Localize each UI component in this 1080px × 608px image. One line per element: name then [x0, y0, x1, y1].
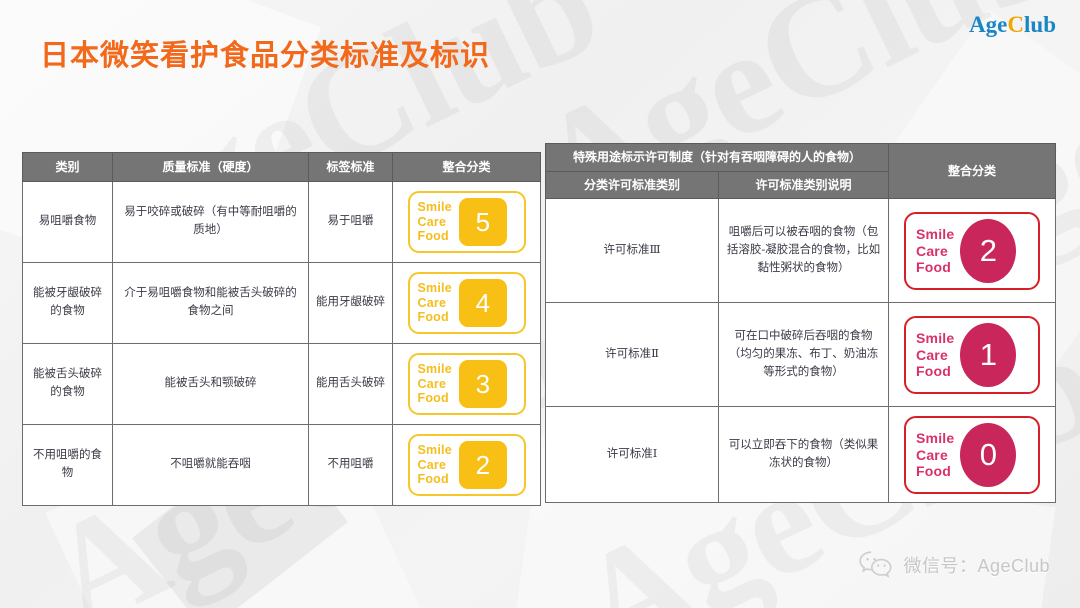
table-row: 许可标准Ⅱ 可在口中破碎后吞咽的食物（均匀的果冻、布丁、奶油冻等形式的食物） S… — [546, 303, 1056, 407]
brand-logo-lub: lub — [1024, 12, 1056, 37]
badge-number: 3 — [459, 360, 507, 408]
badge-word-food: Food — [916, 463, 951, 479]
cell-label: 易于咀嚼 — [309, 182, 393, 263]
cell-description: 咀嚼后可以被吞咽的食物（包括溶胶-凝胶混合的食物，比如黏性粥状的食物） — [719, 199, 889, 303]
cell-quality: 能被舌头和颚破碎 — [113, 344, 309, 425]
brand-logo: AgeClub — [969, 12, 1056, 38]
cell-label: 不用咀嚼 — [309, 425, 393, 506]
col-header-quality: 质量标准（硬度） — [113, 153, 309, 182]
badge-word-smile: Smile — [916, 330, 954, 346]
badge-word-food: Food — [916, 363, 951, 379]
cell-classification-badge: Smile Care Food 1 — [889, 303, 1056, 407]
smile-care-food-badge: Smile Care Food 5 — [408, 191, 526, 253]
badge-word-care: Care — [418, 458, 447, 472]
wechat-footer: 微信号：AgeClub — [858, 550, 1050, 580]
smile-care-food-badge: Smile Care Food 4 — [408, 272, 526, 334]
badge-wordmark: Smile Care Food — [916, 226, 954, 275]
badge-word-food: Food — [418, 391, 449, 405]
cell-classification-badge: Smile Care Food 4 — [393, 263, 541, 344]
badge-word-care: Care — [418, 296, 447, 310]
badge-word-food: Food — [916, 259, 951, 275]
cell-quality: 不咀嚼就能吞咽 — [113, 425, 309, 506]
badge-wordmark: Smile Care Food — [418, 200, 452, 244]
table-header-row: 类别 质量标准（硬度） 标签标准 整合分类 — [23, 153, 541, 182]
cell-category: 能被舌头破碎的食物 — [23, 344, 113, 425]
badge-wordmark: Smile Care Food — [418, 443, 452, 487]
badge-wordmark: Smile Care Food — [916, 430, 954, 479]
smile-care-food-badge: Smile Care Food 0 — [904, 416, 1040, 494]
cell-classification-badge: Smile Care Food 3 — [393, 344, 541, 425]
smile-care-food-badge: Smile Care Food 2 — [408, 434, 526, 496]
col-header-class: 整合分类 — [889, 144, 1056, 199]
cell-label: 能用牙龈破碎 — [309, 263, 393, 344]
col-header-class: 整合分类 — [393, 153, 541, 182]
special-use-labeling-permission-table: 特殊用途标示许可制度（针对有吞咽障碍的人的食物） 整合分类 分类许可标准类别 许… — [545, 143, 1056, 503]
brand-logo-c: C — [1007, 12, 1024, 37]
col-header-category: 类别 — [23, 153, 113, 182]
wechat-id-label: 微信号：AgeClub — [903, 552, 1050, 578]
table-row: 许可标准Ⅲ 咀嚼后可以被吞咽的食物（包括溶胶-凝胶混合的食物，比如黏性粥状的食物… — [546, 199, 1056, 303]
badge-number: 1 — [960, 323, 1016, 387]
cell-standard: 许可标准Ⅰ — [546, 407, 719, 503]
cell-category: 能被牙龈破碎的食物 — [23, 263, 113, 344]
cell-category: 不用咀嚼的食物 — [23, 425, 113, 506]
badge-word-smile: Smile — [418, 443, 452, 457]
smile-care-food-badge: Smile Care Food 2 — [904, 212, 1040, 290]
cell-description: 可在口中破碎后吞咽的食物（均匀的果冻、布丁、奶油冻等形式的食物） — [719, 303, 889, 407]
badge-number: 5 — [459, 198, 507, 246]
badge-wordmark: Smile Care Food — [418, 362, 452, 406]
badge-word-smile: Smile — [418, 362, 452, 376]
slide-canvas: AgeClub AgeClub AgeClub AgeClub AgeClub … — [0, 0, 1080, 608]
badge-word-care: Care — [916, 347, 948, 363]
table-group-header-row: 特殊用途标示许可制度（针对有吞咽障碍的人的食物） 整合分类 — [546, 144, 1056, 172]
table-row: 许可标准Ⅰ 可以立即吞下的食物（类似果冻状的食物） Smile Care Foo… — [546, 407, 1056, 503]
badge-word-smile: Smile — [916, 226, 954, 242]
badge-number: 2 — [459, 441, 507, 489]
col-header-label: 标签标准 — [309, 153, 393, 182]
table-row: 能被舌头破碎的食物 能被舌头和颚破碎 能用舌头破碎 Smile Care Foo… — [23, 344, 541, 425]
cell-category: 易咀嚼食物 — [23, 182, 113, 263]
badge-word-food: Food — [418, 472, 449, 486]
brand-logo-age: Age — [969, 12, 1007, 37]
cell-quality: 介于易咀嚼食物和能被舌头破碎的食物之间 — [113, 263, 309, 344]
badge-number: 0 — [960, 423, 1016, 487]
table-row: 能被牙龈破碎的食物 介于易咀嚼食物和能被舌头破碎的食物之间 能用牙龈破碎 Smi… — [23, 263, 541, 344]
smile-care-food-badge: Smile Care Food 3 — [408, 353, 526, 415]
group-header-special-use: 特殊用途标示许可制度（针对有吞咽障碍的人的食物） — [546, 144, 889, 172]
cell-label: 能用舌头破碎 — [309, 344, 393, 425]
badge-word-food: Food — [418, 310, 449, 324]
page-title: 日本微笑看护食品分类标准及标识 — [40, 32, 490, 74]
badge-wordmark: Smile Care Food — [916, 330, 954, 379]
badge-wordmark: Smile Care Food — [418, 281, 452, 325]
cell-classification-badge: Smile Care Food 2 — [393, 425, 541, 506]
badge-number: 2 — [960, 219, 1016, 283]
food-texture-classification-table: 类别 质量标准（硬度） 标签标准 整合分类 易咀嚼食物 易于咬碎或破碎（有中等耐… — [22, 152, 541, 506]
cell-classification-badge: Smile Care Food 0 — [889, 407, 1056, 503]
cell-quality: 易于咬碎或破碎（有中等耐咀嚼的质地） — [113, 182, 309, 263]
badge-word-care: Care — [916, 243, 948, 259]
smile-care-food-badge: Smile Care Food 1 — [904, 316, 1040, 394]
cell-standard: 许可标准Ⅲ — [546, 199, 719, 303]
wechat-icon — [858, 550, 894, 580]
col-header-standard-desc: 许可标准类别说明 — [719, 171, 889, 199]
col-header-standard-category: 分类许可标准类别 — [546, 171, 719, 199]
cell-description: 可以立即吞下的食物（类似果冻状的食物） — [719, 407, 889, 503]
table-row: 易咀嚼食物 易于咬碎或破碎（有中等耐咀嚼的质地） 易于咀嚼 Smile Care… — [23, 182, 541, 263]
badge-word-care: Care — [418, 215, 447, 229]
badge-word-smile: Smile — [418, 200, 452, 214]
table-row: 不用咀嚼的食物 不咀嚼就能吞咽 不用咀嚼 Smile Care Food 2 — [23, 425, 541, 506]
badge-word-food: Food — [418, 229, 449, 243]
cell-classification-badge: Smile Care Food 2 — [889, 199, 1056, 303]
badge-word-smile: Smile — [418, 281, 452, 295]
cell-classification-badge: Smile Care Food 5 — [393, 182, 541, 263]
badge-word-care: Care — [418, 377, 447, 391]
cell-standard: 许可标准Ⅱ — [546, 303, 719, 407]
badge-word-care: Care — [916, 447, 948, 463]
badge-word-smile: Smile — [916, 430, 954, 446]
badge-number: 4 — [459, 279, 507, 327]
